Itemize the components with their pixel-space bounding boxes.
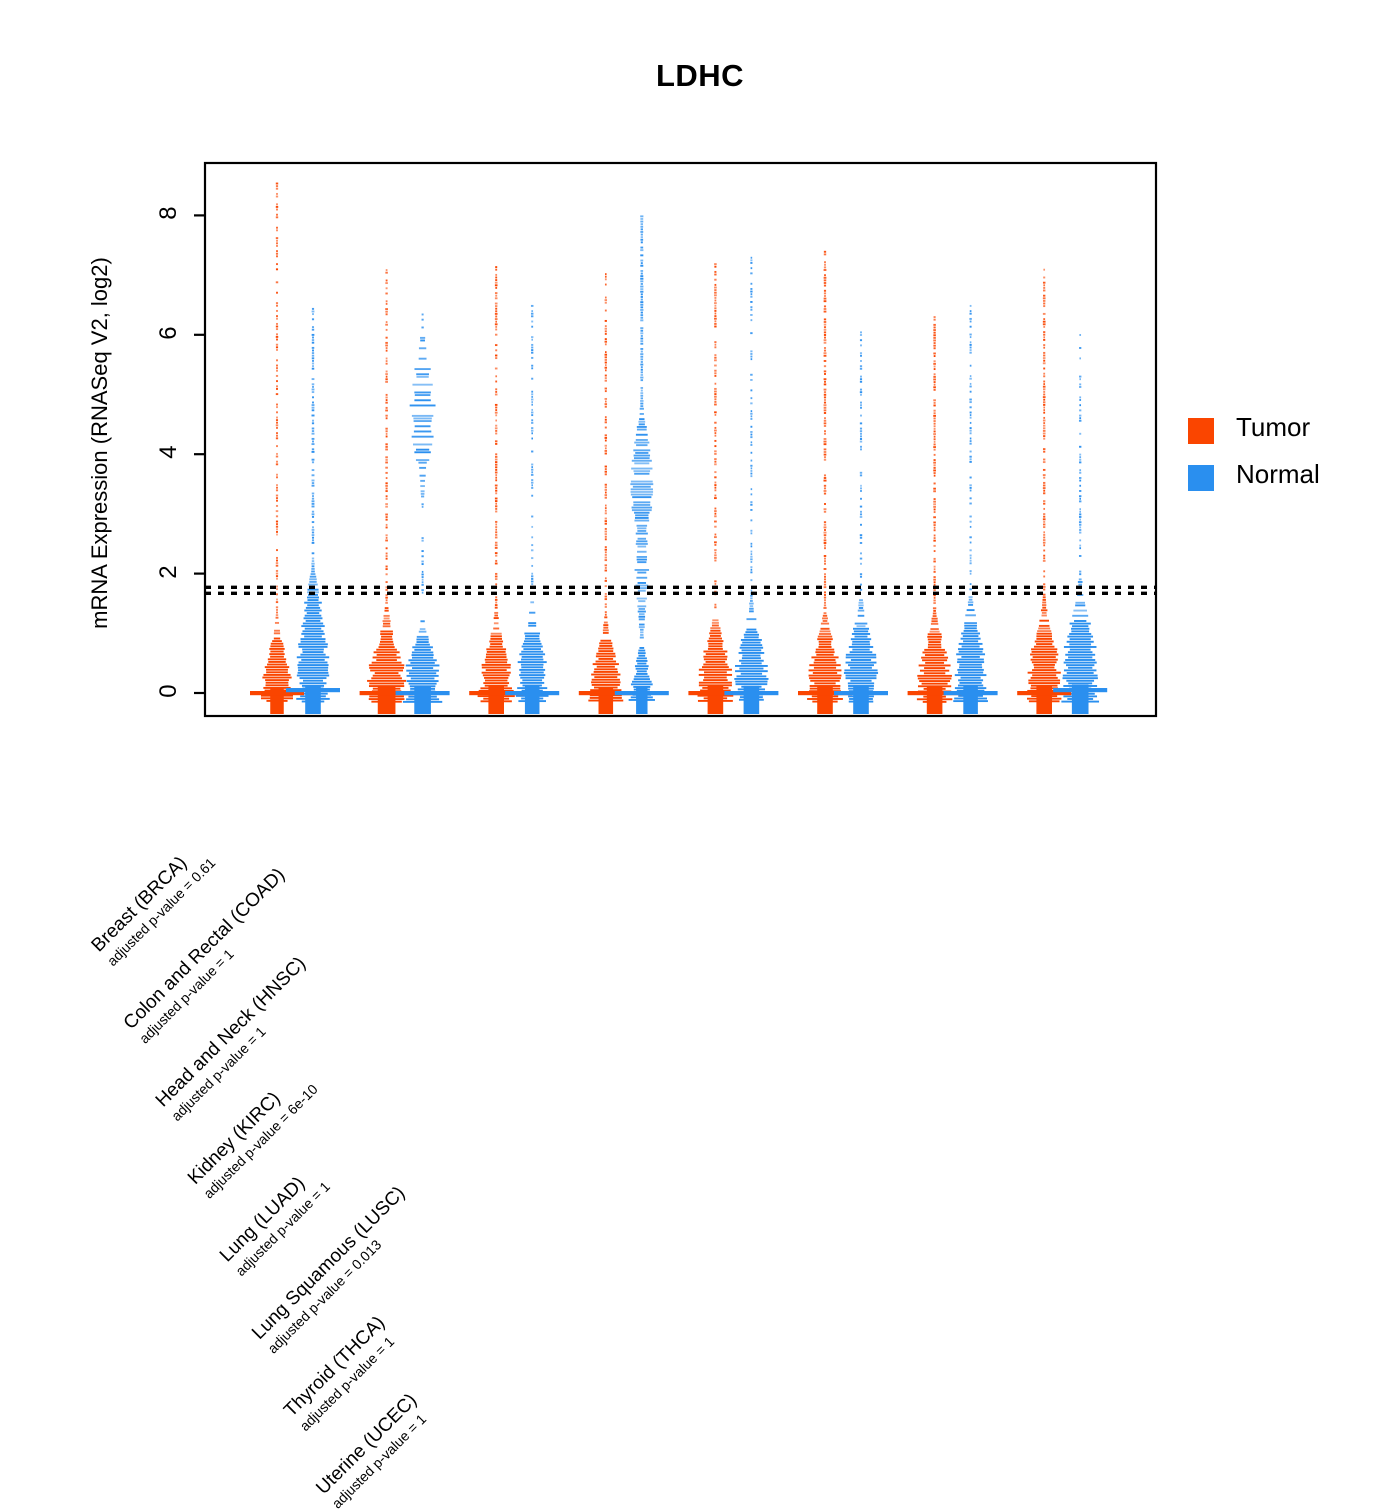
plot-canvas: LDHC mRNA Expression (RNASeq V2, log2) 0… [0,0,1400,1000]
median-line [834,691,888,695]
swarm-luad-tumor [698,263,734,714]
median-line [505,691,559,695]
y-tick-label: 6 [155,313,183,353]
swarm-lusc-normal [844,331,878,714]
swarm-hnsc-tumor [478,266,515,714]
median-line [944,691,998,695]
swarm-luad-normal [734,257,769,714]
y-tick-label: 2 [155,552,183,592]
swarm-brca-normal [296,308,329,714]
median-line [286,688,340,692]
plot-frame [205,163,1156,716]
y-tick-label: 4 [155,432,183,472]
swarm-kirc-tumor [588,273,623,714]
legend-label-normal: Normal [1236,459,1320,490]
swarm-coad-tumor [367,269,406,714]
swarm-thca-normal [953,305,988,714]
median-line [615,691,669,695]
y-tick-label: 0 [155,671,183,711]
y-tick-label: 8 [155,193,183,233]
swarm-ucec-normal [1061,334,1099,714]
swarm-coad-normal [403,314,442,714]
median-line [396,691,450,695]
swarm-lusc-tumor [807,251,843,714]
swarm-hnsc-normal [516,305,549,714]
median-line [724,691,778,695]
legend-swatch-tumor [1188,418,1214,444]
swarm-kirc-normal [629,215,655,714]
swarm-ucec-tumor [1027,269,1061,714]
swarm-brca-tumor [261,183,293,714]
legend-swatch-normal [1188,465,1214,491]
swarm-thca-tumor [917,316,952,714]
median-line [1053,688,1107,692]
legend-label-tumor: Tumor [1236,412,1310,443]
